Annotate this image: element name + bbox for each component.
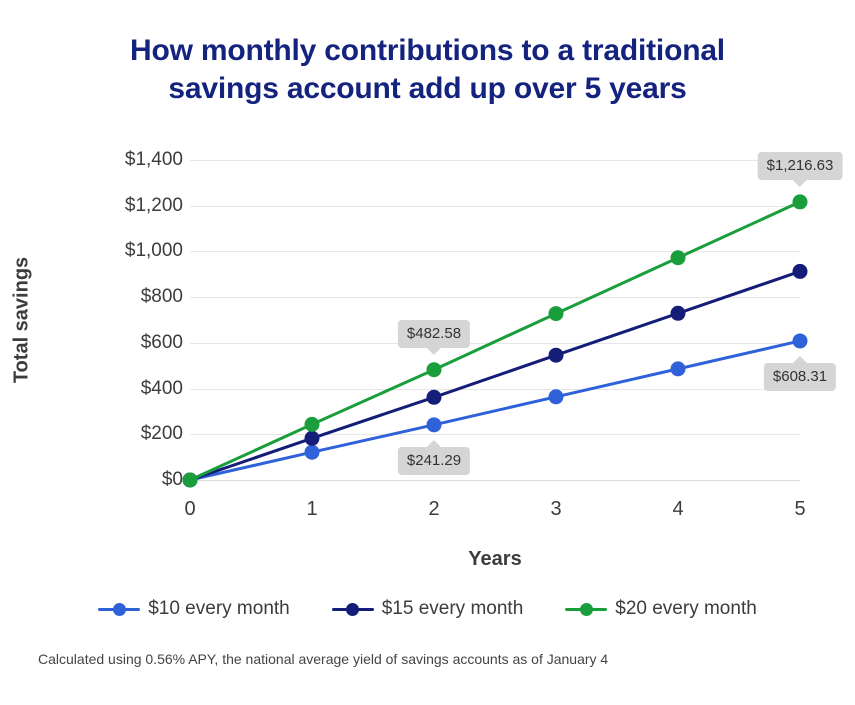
- x-axis-tick-label: 1: [282, 498, 342, 521]
- y-axis-tick-label: $1,400: [73, 149, 183, 171]
- data-point-marker[interactable]: [305, 445, 320, 460]
- data-point-label: $608.31: [764, 363, 836, 391]
- x-axis-tick-label: 5: [770, 498, 830, 521]
- data-point-marker[interactable]: [427, 417, 442, 432]
- y-axis-tick-label: $800: [73, 286, 183, 308]
- data-point-marker[interactable]: [183, 473, 198, 488]
- legend: $10 every month$15 every month$20 every …: [40, 598, 815, 620]
- footnote: Calculated using 0.56% APY, the national…: [38, 651, 608, 667]
- data-point-marker[interactable]: [671, 250, 686, 265]
- data-point-marker[interactable]: [793, 333, 808, 348]
- series-line: [190, 341, 800, 480]
- y-axis-tick-label: $1,200: [73, 195, 183, 217]
- page-title: How monthly contributions to a tradition…: [40, 32, 815, 109]
- data-point-marker[interactable]: [427, 362, 442, 377]
- data-point-marker[interactable]: [793, 194, 808, 209]
- legend-marker-icon: [332, 602, 374, 616]
- data-point-marker[interactable]: [305, 431, 320, 446]
- legend-marker-icon: [98, 602, 140, 616]
- page-title-line-1: How monthly contributions to a tradition…: [40, 32, 815, 70]
- page-title-line-2: savings account add up over 5 years: [40, 70, 815, 108]
- data-point-marker[interactable]: [549, 306, 564, 321]
- data-point-marker[interactable]: [427, 390, 442, 405]
- y-axis-tick-label: $0: [73, 469, 183, 491]
- y-axis-tick-label: $200: [73, 423, 183, 445]
- gridline: [190, 480, 800, 481]
- data-point-marker[interactable]: [793, 264, 808, 279]
- x-axis-title: Years: [190, 548, 800, 571]
- series-layer: [190, 160, 800, 480]
- legend-label: $15 every month: [382, 598, 524, 620]
- data-point-marker[interactable]: [671, 361, 686, 376]
- data-point-label: $1,216.63: [758, 152, 843, 180]
- plot-area: [190, 160, 800, 480]
- legend-marker-icon: [565, 602, 607, 616]
- data-point-label: $482.58: [398, 320, 470, 348]
- legend-item[interactable]: $15 every month: [332, 598, 524, 620]
- x-axis-tick-label: 3: [526, 498, 586, 521]
- legend-item[interactable]: $10 every month: [98, 598, 290, 620]
- y-axis-title: Total savings: [11, 257, 34, 383]
- data-point-marker[interactable]: [549, 389, 564, 404]
- data-point-label: $241.29: [398, 447, 470, 475]
- y-axis-tick-label: $400: [73, 378, 183, 400]
- chart-page: How monthly contributions to a tradition…: [0, 0, 855, 705]
- data-point-marker[interactable]: [549, 348, 564, 363]
- x-axis-tick-label: 0: [160, 498, 220, 521]
- y-axis-tick-label: $1,000: [73, 240, 183, 262]
- legend-item[interactable]: $20 every month: [565, 598, 757, 620]
- x-axis-tick-label: 4: [648, 498, 708, 521]
- x-axis-tick-label: 2: [404, 498, 464, 521]
- series-line: [190, 271, 800, 480]
- y-axis-tick-label: $600: [73, 332, 183, 354]
- legend-label: $10 every month: [148, 598, 290, 620]
- data-point-marker[interactable]: [305, 417, 320, 432]
- data-point-marker[interactable]: [671, 306, 686, 321]
- series-line: [190, 202, 800, 480]
- legend-label: $20 every month: [615, 598, 757, 620]
